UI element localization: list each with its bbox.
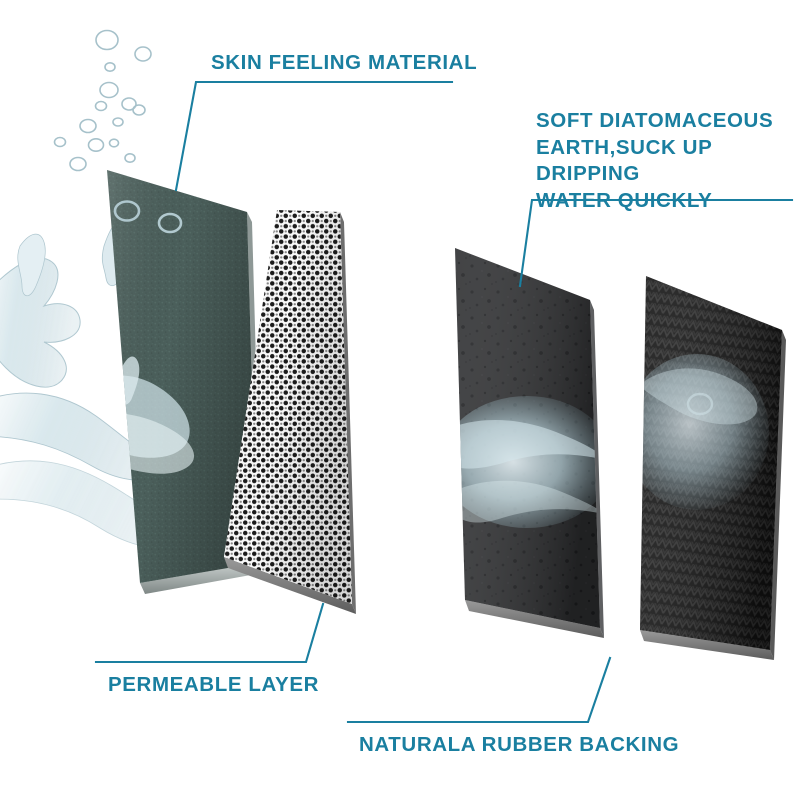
layer-rubber-water [625,354,769,510]
callout-skin-feeling-material: SKIN FEELING MATERIAL [211,50,477,77]
callout-soft-diatomaceous-earth: SOFT DIATOMACEOUS EARTH,SUCK UP DRIPPING… [536,108,800,215]
callout-soft-line-3: WATER QUICKLY [536,189,712,212]
callout-permeable-layer: PERMEABLE LAYER [108,672,319,699]
callout-soft-line-2: EARTH,SUCK UP DRIPPING [536,136,712,186]
callout-naturala-rubber-backing: NATURALA RUBBER BACKING [359,732,679,759]
layer-rubber-backing [625,276,786,660]
callout-soft-line-1: SOFT DIATOMACEOUS [536,109,773,132]
infographic-canvas: SKIN FEELING MATERIAL SOFT DIATOMACEOUS … [0,0,800,800]
